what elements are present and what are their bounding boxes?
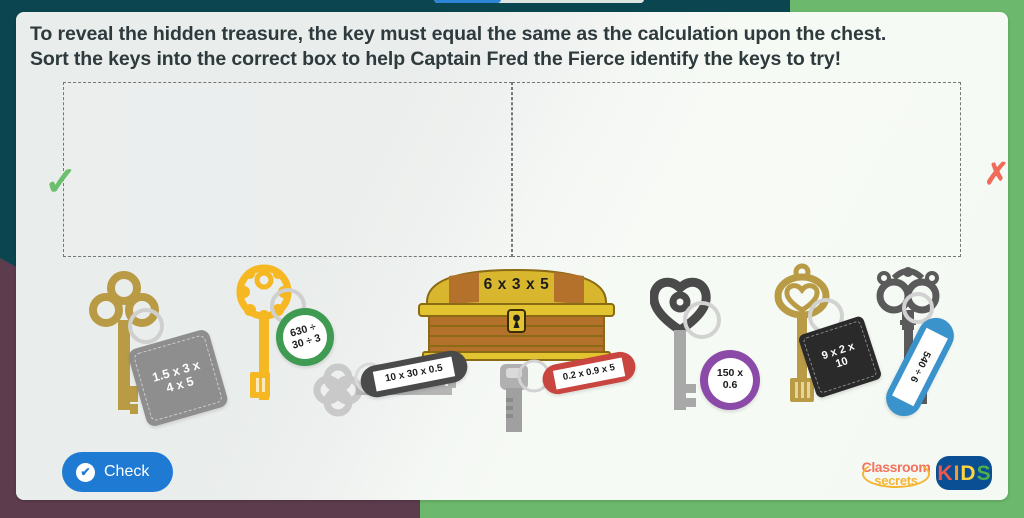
key-tag-4-text: 0.2 x 0.9 x 5 bbox=[562, 363, 616, 384]
key-tag-5-text: 150 x 0.6 bbox=[717, 368, 743, 392]
correct-marker-icon: ✓ bbox=[44, 162, 78, 202]
progress-bar bbox=[434, 0, 644, 3]
key-tag-6-text: 9 x 2 x 10 bbox=[820, 340, 860, 374]
kids-letter-d: D bbox=[960, 463, 975, 484]
dropzone-incorrect[interactable] bbox=[512, 82, 961, 257]
key-item-5[interactable]: 150 x 0.6 bbox=[650, 272, 770, 422]
kids-letter-s: S bbox=[977, 463, 991, 484]
check-icon: ✔ bbox=[76, 463, 95, 482]
kids-letter-i: I bbox=[954, 463, 960, 484]
chest-calculation: 6 x 3 x 5 bbox=[409, 276, 624, 294]
brand-logos: Classroom secrets K I D S bbox=[860, 456, 992, 490]
progress-bar-fill bbox=[434, 0, 501, 3]
check-button[interactable]: ✔ Check bbox=[62, 452, 173, 492]
screen: To reveal the hidden treasure, the key m… bbox=[0, 0, 1024, 518]
key-item-7[interactable]: 540 ÷ 6 bbox=[874, 262, 984, 427]
key-item-4[interactable]: 0.2 x 0.9 x 5 bbox=[486, 354, 626, 434]
activity-card: To reveal the hidden treasure, the key m… bbox=[16, 12, 1008, 500]
key-tag-3-text: 10 x 30 x 0.5 bbox=[384, 363, 443, 385]
prompt-line-2: Sort the keys into the correct box to he… bbox=[30, 47, 1000, 72]
incorrect-marker-icon: ✗ bbox=[984, 160, 1008, 190]
classroom-secrets-logo: Classroom secrets bbox=[860, 456, 932, 490]
kids-badge: K I D S bbox=[936, 456, 992, 490]
page-title: To reveal the hidden treasure, the key m… bbox=[30, 22, 1000, 72]
prompt-line-1: To reveal the hidden treasure, the key m… bbox=[30, 22, 1000, 47]
key-tag-2-text: 630 ÷ 30 ÷ 3 bbox=[288, 322, 322, 353]
logo-swoosh-icon bbox=[862, 460, 930, 488]
check-button-label: Check bbox=[104, 463, 149, 481]
key-item-1[interactable]: 1.5 x 3 x 4 x 5 bbox=[88, 266, 228, 426]
key-tag-1-text: 1.5 x 3 x 4 x 5 bbox=[151, 358, 205, 398]
dropzone-correct[interactable] bbox=[63, 82, 512, 257]
key-tag-5-inner: 150 x 0.6 bbox=[708, 358, 753, 403]
kids-letter-k: K bbox=[937, 463, 952, 484]
key-tag-7-text: 540 ÷ 6 bbox=[907, 350, 932, 385]
dropzone-row bbox=[63, 82, 961, 257]
key-item-3[interactable]: 10 x 30 x 0.5 bbox=[308, 350, 468, 430]
keys-tray: 6 x 3 x 5 1.5 x 3 x 4 x 5 bbox=[16, 258, 1008, 448]
key-item-6[interactable]: 9 x 2 x 10 bbox=[768, 262, 888, 422]
treasure-chest: 6 x 3 x 5 bbox=[409, 262, 624, 362]
key-tag-5[interactable]: 150 x 0.6 bbox=[700, 350, 760, 410]
